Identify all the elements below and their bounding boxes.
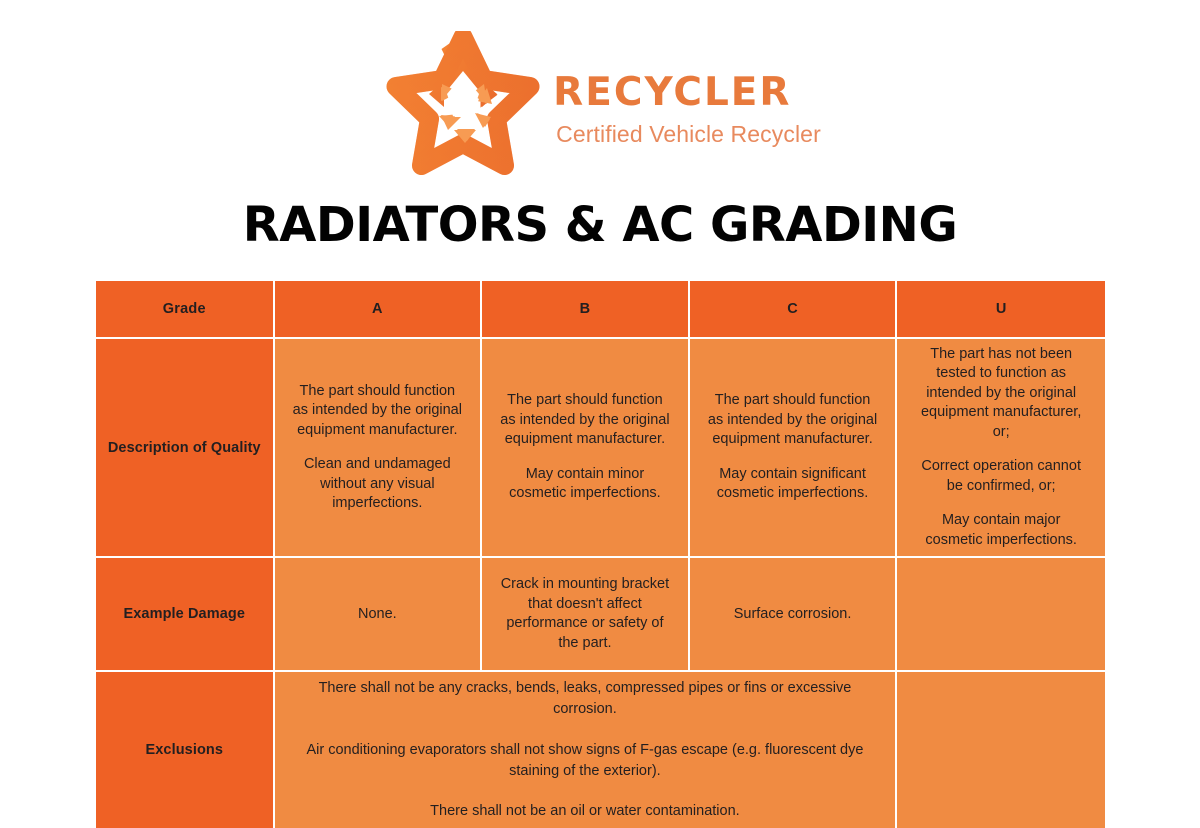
- column-header-u: U: [897, 281, 1105, 339]
- logo-tagline: Certified Vehicle Recycler: [553, 112, 821, 150]
- paragraph: Air conditioning evaporators shall not s…: [297, 740, 874, 782]
- cell-example-damage-b: Crack in mounting bracket that doesn't a…: [482, 558, 690, 672]
- paragraph: None.: [289, 605, 467, 624]
- paragraph: Correct operation cannot be confirmed, o…: [911, 457, 1091, 496]
- paragraph: There shall not be an oil or water conta…: [297, 801, 874, 822]
- column-header-a: A: [275, 281, 483, 339]
- paragraph: The part should function as intended by …: [293, 382, 463, 440]
- column-header-b: B: [482, 281, 690, 339]
- cell-example-damage-c: Surface corrosion.: [690, 558, 898, 672]
- page-title: RADIATORS & AC GRADING: [0, 198, 1200, 253]
- column-header-grade: Grade: [96, 281, 275, 339]
- cell-description-u: The part has not been tested to function…: [897, 339, 1105, 558]
- cell-description-c: The part should function as intended by …: [690, 339, 898, 558]
- table-row-description-of-quality: Description of Quality The part should f…: [96, 339, 1105, 558]
- cell-description-b: The part should function as intended by …: [482, 339, 690, 558]
- cell-exclusions-u: [897, 672, 1105, 828]
- cell-example-damage-u: [897, 558, 1105, 672]
- paragraph: The part should function as intended by …: [708, 391, 878, 449]
- column-header-c: C: [690, 281, 898, 339]
- table-row-exclusions: Exclusions There shall not be any cracks…: [96, 672, 1105, 828]
- table-row-example-damage: Example Damage None. Crack in mounting b…: [96, 558, 1105, 672]
- paragraph: Crack in mounting bracket that doesn't a…: [500, 575, 670, 653]
- paragraph: Clean and undamaged without any visual i…: [293, 455, 463, 513]
- paragraph: The part should function as intended by …: [500, 391, 670, 449]
- paragraph: There shall not be any cracks, bends, le…: [297, 678, 874, 720]
- recycling-star-icon: [379, 31, 547, 176]
- row-label-exclusions: Exclusions: [96, 672, 275, 828]
- cell-example-damage-a: None.: [275, 558, 483, 672]
- paragraph: May contain minor cosmetic imperfections…: [500, 465, 670, 504]
- brand-logo: RECYCLER Certified Vehicle Recycler: [0, 28, 1200, 178]
- grading-table: Grade A B C U Description of Quality The…: [96, 281, 1105, 828]
- cell-exclusions-a-to-c: There shall not be any cracks, bends, le…: [275, 672, 898, 828]
- paragraph: May contain major cosmetic imperfections…: [911, 511, 1091, 550]
- cell-description-a: The part should function as intended by …: [275, 339, 483, 558]
- row-label-description-of-quality: Description of Quality: [96, 339, 275, 558]
- paragraph: The part has not been tested to function…: [911, 345, 1091, 442]
- paragraph: May contain significant cosmetic imperfe…: [708, 465, 878, 504]
- logo-wordmark: RECYCLER: [553, 73, 821, 112]
- paragraph: Surface corrosion.: [704, 605, 882, 624]
- row-label-example-damage: Example Damage: [96, 558, 275, 672]
- table-header-row: Grade A B C U: [96, 281, 1105, 339]
